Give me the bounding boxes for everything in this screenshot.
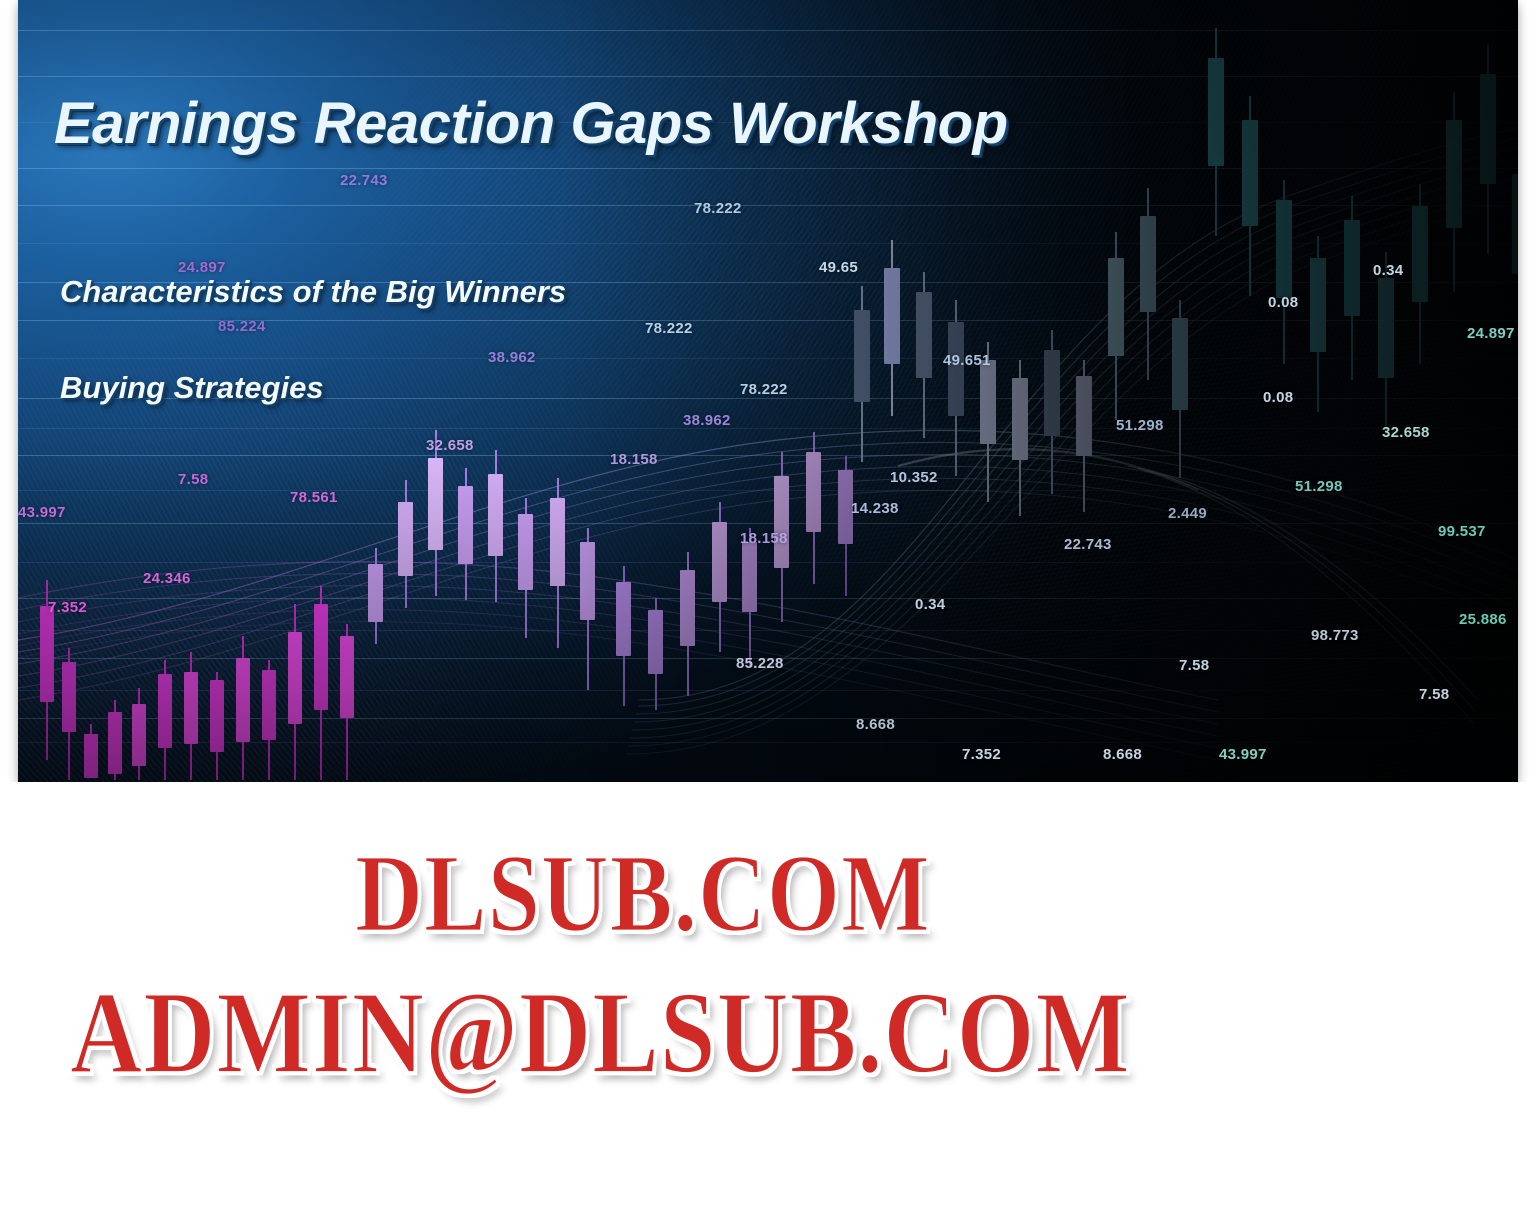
subtitle-characteristics: Characteristics of the Big Winners <box>60 274 566 310</box>
banner-text-block: Earnings Reaction Gaps Workshop Characte… <box>18 0 1518 782</box>
watermark-site: DLSUB.COM <box>355 830 931 957</box>
subtitle-buying-strategies: Buying Strategies <box>60 370 324 406</box>
page-title: Earnings Reaction Gaps Workshop <box>54 90 1008 157</box>
hero-banner: 22.74324.89785.22478.22278.22278.22249.6… <box>18 0 1518 782</box>
watermark-email: ADMIN@DLSUB.COM <box>70 965 1131 1101</box>
